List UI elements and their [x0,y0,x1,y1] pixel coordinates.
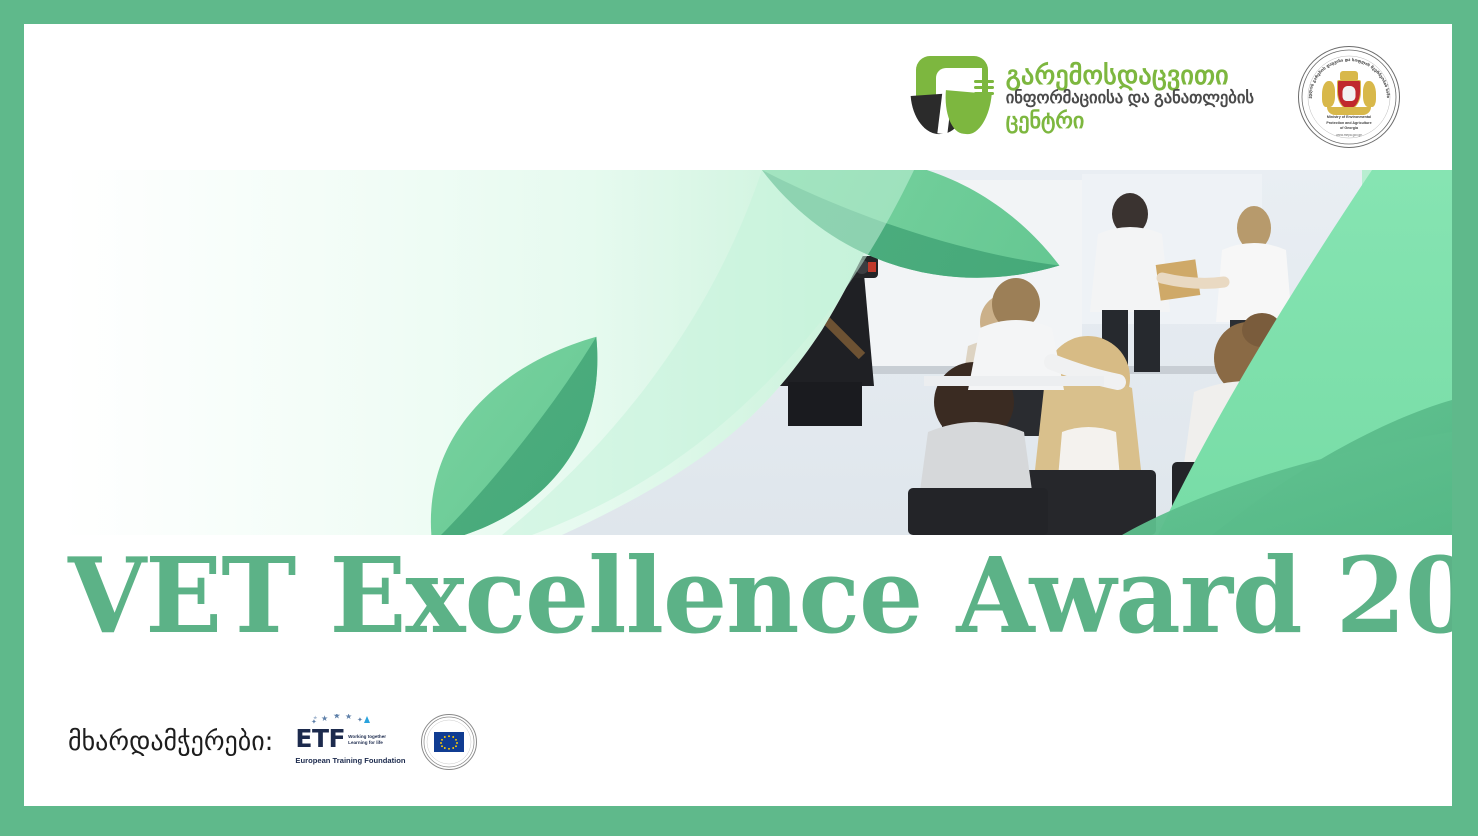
header-logos: გარემოსდაცვითი ინფორმაციისა და განათლები… [24,24,1452,170]
eiec-logo: გარემოსდაცვითი ინფორმაციისა და განათლები… [910,54,1254,140]
etf-tagline-line1: Working together [348,734,386,739]
svg-text:★: ★ [345,714,352,721]
hero-artwork [62,170,1452,535]
open-book-leaf-icon [910,54,996,140]
svg-text:★: ★ [333,714,341,722]
poster-frame: გარემოსდაცვითი ინფორმაციისა და განათლები… [0,0,1478,836]
etf-wordmark: ETF Working together Learning for life [295,726,386,751]
eiec-logo-line2: ინფორმაციისა და განათლების [1006,90,1254,107]
ministry-caption: Ministry of Environmental Protection and… [1299,115,1399,131]
etf-logo: ✦ ★ ★ ★ ✦ ETF Working together Learning … [295,714,399,770]
supporters-row: მხარდამჭერები: ✦ ★ ★ ★ ✦ [68,714,477,770]
etf-full-name: European Training Foundation [295,756,405,765]
etf-tagline: Working together Learning for life [348,726,386,746]
page-title-row: VET Excellence Award 2022 [24,544,1452,648]
poster-canvas: გარემოსდაცვითი ინფორმაციისა და განათლები… [24,24,1452,806]
ministry-caption-line3: of Georgia [1313,126,1385,131]
european-union-emblem-icon [421,714,477,770]
etf-acronym: ETF [295,726,345,751]
eiec-logo-text: გარემოსდაცვითი ინფორმაციისა და განათლები… [1006,62,1254,132]
eu-flag-icon [434,732,464,752]
eiec-logo-line3: ცენტრი [1006,109,1254,132]
ministry-website: www.mepa.gov.ge [1299,133,1399,137]
hero-banner [62,170,1452,535]
supporters-label: მხარდამჭერები: [68,727,273,757]
eiec-logo-line1: გარემოსდაცვითი [1006,62,1254,89]
svg-text:✦: ✦ [357,716,363,724]
page-title: VET Excellence Award 2022 [68,544,1410,648]
georgia-coat-of-arms [1323,71,1375,115]
leaf-decor-bottom [387,337,642,535]
svg-text:★: ★ [321,714,328,723]
ministry-emblem-icon: საქართველოს გარემოს დაცვისა და სოფლის მე… [1298,46,1400,148]
etf-tagline-line2: Learning for life [348,740,383,745]
